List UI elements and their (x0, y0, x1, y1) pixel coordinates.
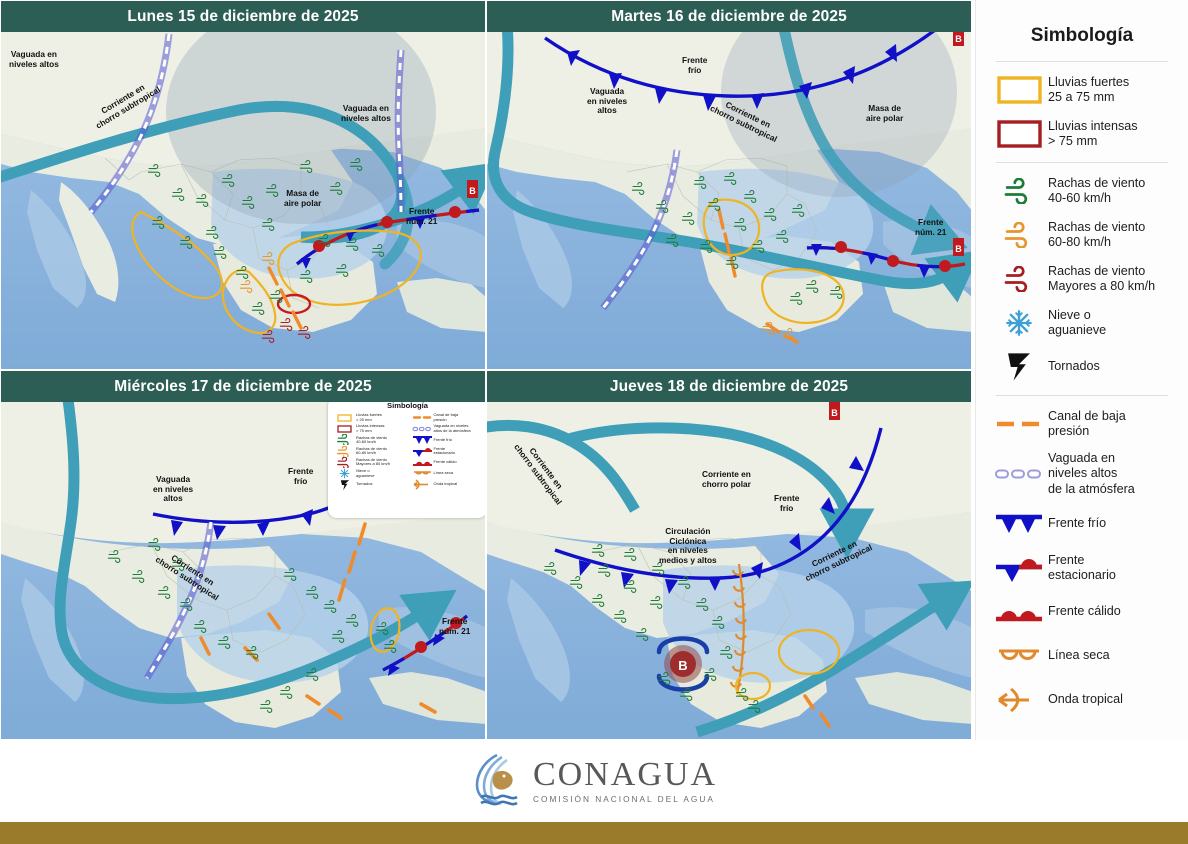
cold-front-icon (990, 513, 1048, 535)
legend-item-tropical-wave: Onda tropical (976, 678, 1188, 722)
intense-rain-box-icon (990, 120, 1048, 148)
mini-legend-item: Tornados (330, 479, 408, 490)
legend-item-label: Lluvias fuertes25 a 75 mm (1048, 75, 1129, 106)
tornado-icon (990, 352, 1048, 382)
logo-title: CONAGUA (533, 758, 717, 792)
tornado-icon (333, 479, 356, 491)
mini-legend-label: Frente frío (434, 438, 452, 442)
mini-legend-label: Rachas de vientoMayores a 80 km/h (356, 458, 390, 467)
stationary-front-icon (411, 446, 434, 457)
wind-gust-green-icon (333, 434, 356, 445)
legend-item-wind-over-80: Rachas de vientoMayores a 80 km/h (976, 257, 1188, 301)
legend-divider (996, 395, 1168, 396)
panel-title-martes: Martes 16 de diciembre de 2025 (487, 1, 971, 32)
warm-front-icon (990, 602, 1048, 622)
map-canvas-lunes: B (1, 32, 485, 369)
mini-legend-label: Tornados (356, 482, 372, 486)
mini-legend-label: Frente cálido (434, 460, 457, 464)
map-panel-lunes[interactable]: Lunes 15 de diciembre de 2025 (0, 0, 486, 370)
legend-item-label: Frenteestacionario (1048, 553, 1116, 584)
map-panel-martes[interactable]: Martes 16 de diciembre de 2025 (486, 0, 972, 370)
legend-divider (996, 61, 1168, 62)
mini-legend-label: Canal de bajapresión (434, 413, 459, 422)
map-panel-grid: Lunes 15 de diciembre de 2025 (0, 0, 972, 740)
mini-legend-label: Lluvias fuertes> 25 mm (356, 413, 382, 422)
legend-item-label: Lluvias intensas> 75 mm (1048, 119, 1138, 150)
intense-rain-box-icon (333, 425, 356, 433)
wind-gust-red-icon (333, 457, 356, 468)
warm-front-icon (411, 458, 434, 466)
mini-legend-item: Vaguada en nivelesaltos de la atmósfera (408, 423, 486, 434)
upper-level-trough-icon (411, 426, 434, 432)
legend-item-label: Nieve oaguanieve (1048, 308, 1106, 339)
legend-item-label: Rachas de vientoMayores a 80 km/h (1048, 264, 1155, 295)
legend-item-label: Vaguada enniveles altosde la atmósfera (1048, 451, 1135, 497)
mini-legend-item: Frente frío (408, 434, 486, 445)
cold-front-icon (411, 435, 434, 445)
panel-title-miercoles: Miércoles 17 de diciembre de 2025 (1, 371, 485, 402)
heavy-rain-box-icon (333, 414, 356, 422)
mini-legend-label: Nieve oaguanieve (356, 469, 374, 478)
mini-legend-item: Rachas de viento60-80 km/h (330, 446, 408, 457)
mini-legend-label: Lluvias intensas> 75 mm (356, 424, 384, 433)
dry-line-icon (411, 470, 434, 478)
map-panel-jueves[interactable]: Jueves 18 de diciembre de 2025 (486, 370, 972, 740)
legend-item-intense-rain: Lluvias intensas> 75 mm (976, 112, 1188, 156)
svg-text:B: B (678, 658, 687, 673)
upper-level-trough-icon (990, 467, 1048, 481)
map-canvas-martes: B (487, 32, 971, 369)
legend-item-dry-line: Línea seca (976, 634, 1188, 678)
mini-legend-item: Rachas de viento40-60 km/h (330, 434, 408, 445)
mini-legend-item: Canal de bajapresión (408, 412, 486, 423)
legend-item-label: Tornados (1048, 359, 1100, 374)
tropical-wave-icon (990, 687, 1048, 713)
conagua-logo: CONAGUA COMISIÓN NACIONAL DEL AGUA (471, 751, 717, 812)
mini-legend-label: Frenteestacionario (434, 447, 456, 456)
legend-item-label: Frente frío (1048, 516, 1106, 531)
mini-legend-label: Rachas de viento60-80 km/h (356, 447, 387, 456)
legend-divider (996, 162, 1168, 163)
mini-legend-item: Onda tropical (408, 479, 486, 490)
legend-item-label: Rachas de viento40-60 km/h (1048, 176, 1145, 207)
snow-icon (333, 468, 356, 479)
embedded-legend-box: Simbología Lluvias fuertes> 25 mm (328, 397, 486, 518)
wind-gust-orange-icon (990, 222, 1048, 248)
embedded-legend-col-left: Lluvias fuertes> 25 mm Lluvias intensas>… (330, 412, 408, 490)
legend-item-label: Onda tropical (1048, 692, 1123, 707)
legend-item-label: Canal de bajapresión (1048, 409, 1126, 440)
legend-title: Simbología (976, 25, 1188, 47)
mini-legend-item: Frente cálido (408, 457, 486, 468)
embedded-legend-col-right: Canal de bajapresión Vaguada en nivelesa… (408, 412, 486, 490)
low-pressure-marker: B (467, 180, 478, 198)
svg-text:B: B (955, 244, 962, 254)
legend-item-wind-60-80: Rachas de viento60-80 km/h (976, 213, 1188, 257)
svg-text:B: B (955, 34, 962, 44)
svg-text:B: B (831, 408, 838, 418)
mini-legend-label: Onda tropical (434, 482, 458, 486)
dry-line-icon (990, 647, 1048, 665)
logo-subtitle: COMISIÓN NACIONAL DEL AGUA (533, 795, 717, 803)
wind-gust-green-icon (990, 178, 1048, 204)
legend-item-label: Línea seca (1048, 648, 1110, 663)
legend-item-wind-40-60: Rachas de viento40-60 km/h (976, 169, 1188, 213)
wind-gust-red-icon (990, 266, 1048, 292)
map-canvas-jueves: B (487, 402, 971, 739)
mini-legend-item: Lluvias intensas> 75 mm (330, 423, 408, 434)
mini-legend-label: Línea seca (434, 471, 454, 475)
embedded-legend-title: Simbología (330, 401, 485, 410)
mini-legend-item: Frenteestacionario (408, 446, 486, 457)
wind-gust-orange-icon (333, 446, 356, 457)
legend-item-label: Rachas de viento60-80 km/h (1048, 220, 1145, 251)
legend-item-heavy-rain: Lluvias fuertes25 a 75 mm (976, 68, 1188, 112)
legend-item-snow: Nieve oaguanieve (976, 301, 1188, 345)
legend-item-warm-front: Frente cálido (976, 590, 1188, 634)
mini-legend-item: Línea seca (408, 468, 486, 479)
map-panel-miercoles[interactable]: Miércoles 17 de diciembre de 2025 (0, 370, 486, 740)
legend-item-label: Frente cálido (1048, 604, 1121, 619)
snow-icon (990, 309, 1048, 337)
weather-forecast-infographic: Lunes 15 de diciembre de 2025 (0, 0, 1188, 844)
conagua-logo-text: CONAGUA COMISIÓN NACIONAL DEL AGUA (533, 758, 717, 803)
low-pressure-trough-icon (411, 415, 434, 420)
panel-title-lunes: Lunes 15 de diciembre de 2025 (1, 1, 485, 32)
legend-item-cold-front: Frente frío (976, 502, 1188, 546)
legend-item-stationary-front: Frenteestacionario (976, 546, 1188, 590)
legend-panel: Simbología Lluvias fuertes25 a 75 mm Llu… (975, 0, 1188, 740)
low-pressure-trough-icon (990, 419, 1048, 429)
tropical-wave-icon (411, 479, 434, 490)
stationary-front-icon (990, 554, 1048, 582)
mini-legend-label: Vaguada en nivelesaltos de la atmósfera (434, 424, 471, 433)
svg-text:B: B (469, 186, 476, 196)
mini-legend-item: Lluvias fuertes> 25 mm (330, 412, 408, 423)
gold-footer-bar (0, 822, 1188, 844)
legend-item-tornado: Tornados (976, 345, 1188, 389)
mini-legend-label: Rachas de viento40-60 km/h (356, 436, 387, 445)
heavy-rain-box-icon (990, 76, 1048, 104)
legend-item-upper-level-trough: Vaguada enniveles altosde la atmósfera (976, 446, 1188, 502)
mini-legend-item: Nieve oaguanieve (330, 468, 408, 479)
mini-legend-item: Rachas de vientoMayores a 80 km/h (330, 457, 408, 468)
panel-title-jueves: Jueves 18 de diciembre de 2025 (487, 371, 971, 402)
conagua-eagle-water-logo-icon (471, 751, 523, 812)
legend-item-low-pressure-trough: Canal de bajapresión (976, 402, 1188, 446)
footer: CONAGUA COMISIÓN NACIONAL DEL AGUA (0, 740, 1188, 822)
